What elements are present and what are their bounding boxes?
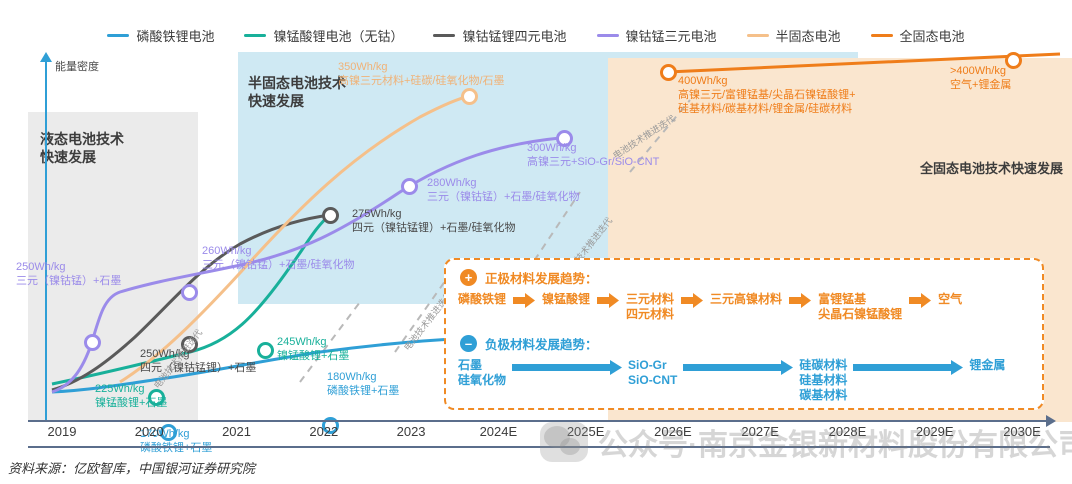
legend-label: 镍钴锰锂四元电池 xyxy=(462,26,566,45)
label-quaternary-275: 275Wh/kg 四元（镍钴锰锂）+石墨/硅氧化物 xyxy=(352,207,515,235)
point-allsolid-400 xyxy=(660,64,677,81)
chain-step: 三元高镍材料 xyxy=(710,292,782,307)
chain-step: 磷酸铁锂 xyxy=(458,292,506,307)
legend-label: 半固态电池 xyxy=(776,26,841,45)
label-nimn-245: 245Wh/kg 镍锰酸锂+石墨 xyxy=(277,335,349,363)
chain-step: 锂金属 xyxy=(969,358,1005,373)
x-tick-2023: 2023 xyxy=(397,424,426,439)
point-quaternary-275 xyxy=(322,207,339,224)
chain-step: SiO-Gr SiO-CNT xyxy=(628,358,677,388)
legend-label: 磷酸铁锂电池 xyxy=(136,26,214,45)
arrow-right-icon xyxy=(597,293,619,313)
x-tick-2019: 2019 xyxy=(48,424,77,439)
legend-label: 镍锰酸锂电池（无钴） xyxy=(273,26,403,45)
chain-step: 硅碳材料 硅基材料 碳基材料 xyxy=(799,358,847,403)
chain-step: 石墨 硅氧化物 xyxy=(458,358,506,388)
arrow-right-icon xyxy=(683,360,793,380)
anode-chain: 石墨 硅氧化物SiO-Gr SiO-CNT硅碳材料 硅基材料 碳基材料锂金属 xyxy=(458,358,1036,403)
legend-item-4[interactable]: 半固态电池 xyxy=(747,26,841,45)
legend-swatch-icon xyxy=(244,34,266,37)
point-nimn-245 xyxy=(257,342,274,359)
point-ternary-260 xyxy=(181,284,198,301)
legend-item-0[interactable]: 磷酸铁锂电池 xyxy=(107,26,214,45)
label-ternary-260: 260Wh/kg 三元（镍钴锰）+石墨/硅氧化物 xyxy=(202,244,354,272)
label-ternary-250: 250Wh/kg 三元（镍钴锰）+石墨 xyxy=(16,260,121,288)
legend-swatch-icon xyxy=(871,34,893,37)
point-ternary-280 xyxy=(401,178,418,195)
label-quaternary-250: 250Wh/kg 四元（镍钴锰锂）+石墨 xyxy=(140,347,256,375)
arrow-right-icon xyxy=(513,293,535,313)
arrow-right-icon xyxy=(909,293,931,313)
chart-legend: 磷酸铁锂电池镍锰酸锂电池（无钴）镍钴锰锂四元电池镍钴锰三元电池半固态电池全固态电… xyxy=(0,22,1072,48)
legend-swatch-icon xyxy=(107,34,129,37)
source-note: 资料来源：亿欧智库，中国银河证券研究院 xyxy=(8,458,255,477)
legend-item-2[interactable]: 镍钴锰锂四元电池 xyxy=(433,26,566,45)
arrow-right-icon xyxy=(681,293,703,313)
wechat-icon xyxy=(540,422,588,462)
legend-label: 全固态电池 xyxy=(900,26,965,45)
label-semisolid-350: 350Wh/kg 高镍三元材料+硅碳/硅氧化物/石墨 xyxy=(338,60,505,88)
cathode-header: + 正极材料发展趋势： xyxy=(460,268,598,287)
cathode-title: 正极材料发展趋势： xyxy=(485,268,598,287)
legend-swatch-icon xyxy=(747,34,769,37)
watermark-text: 公众号·南京金银新材料股份有限公司 xyxy=(598,420,1072,464)
material-trend-box: + 正极材料发展趋势： 磷酸铁锂镍锰酸锂三元材料 四元材料三元高镍材料富锂锰基 … xyxy=(444,258,1044,410)
chain-step: 镍锰酸锂 xyxy=(542,292,590,307)
legend-item-1[interactable]: 镍锰酸锂电池（无钴） xyxy=(244,26,403,45)
legend-label: 镍钴锰三元电池 xyxy=(626,26,717,45)
minus-icon: – xyxy=(460,335,477,352)
cathode-chain: 磷酸铁锂镍锰酸锂三元材料 四元材料三元高镍材料富锂锰基 尖晶石镍锰酸锂空气 xyxy=(458,292,1036,322)
x-tick-2021: 2021 xyxy=(222,424,251,439)
label-allsolid-400plus: >400Wh/kg 空气+锂金属 xyxy=(950,64,1011,92)
chain-step: 富锂锰基 尖晶石镍锰酸锂 xyxy=(818,292,902,322)
arrow-right-icon xyxy=(789,293,811,313)
legend-item-5[interactable]: 全固态电池 xyxy=(871,26,965,45)
legend-swatch-icon xyxy=(597,34,619,37)
label-ternary-280: 280Wh/kg 三元（镍钴锰）+石墨/硅氧化物 xyxy=(427,176,579,204)
watermark: 公众号·南京金银新材料股份有限公司 xyxy=(540,412,1060,472)
point-semisolid-350 xyxy=(461,88,478,105)
anode-header: – 负极材料发展趋势： xyxy=(460,334,598,353)
x-tick-2020: 2020 xyxy=(135,424,164,439)
x-tick-2022: 2022 xyxy=(309,424,338,439)
arrow-right-icon xyxy=(853,360,963,380)
legend-item-3[interactable]: 镍钴锰三元电池 xyxy=(597,26,717,45)
legend-swatch-icon xyxy=(433,34,455,37)
arrow-right-icon xyxy=(512,360,622,380)
anode-title: 负极材料发展趋势： xyxy=(485,334,598,353)
point-ternary-250 xyxy=(84,334,101,351)
plus-icon: + xyxy=(460,269,477,286)
chain-step: 三元材料 四元材料 xyxy=(626,292,674,322)
label-allsolid-400: 400Wh/kg 高镍三元/富锂锰基/尖晶石镍锰酸锂+ 硅基材料/碳基材料/锂金… xyxy=(678,74,856,116)
label-lfp-180: 180Wh/kg 磷酸铁锂+石墨 xyxy=(327,370,399,398)
chain-step: 空气 xyxy=(938,292,962,307)
x-tick-2024E: 2024E xyxy=(480,424,518,439)
